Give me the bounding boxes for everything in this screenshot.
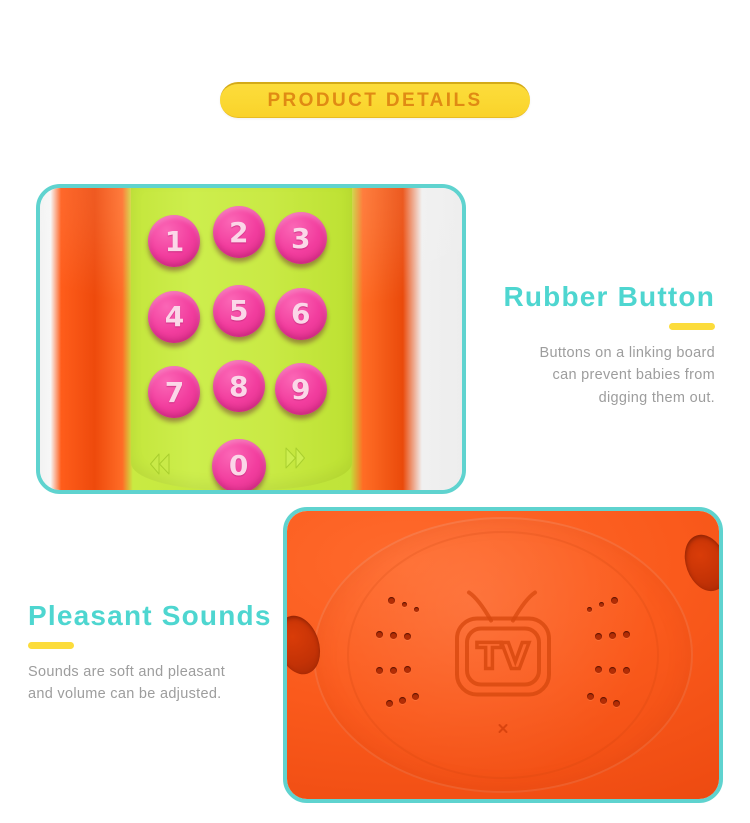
feature-heading-pleasant-sounds: Pleasant Sounds bbox=[28, 601, 278, 632]
keypad-key-1: 1 bbox=[148, 215, 200, 267]
keypad-key-9: 9 bbox=[275, 363, 327, 415]
description-line: Sounds are soft and pleasant bbox=[28, 661, 278, 683]
heading-underline-accent bbox=[28, 642, 74, 649]
description-line: digging them out. bbox=[480, 387, 715, 409]
keypad-key-5: 5 bbox=[213, 285, 265, 337]
keypad-key-8: 8 bbox=[213, 360, 265, 412]
keypad-photo: 1 2 3 4 5 6 7 8 9 0 bbox=[40, 188, 462, 490]
feature-description-rubber-button: Buttons on a linking board can prevent b… bbox=[480, 342, 715, 409]
heading-underline-accent bbox=[669, 323, 715, 330]
keypad-key-grid: 1 2 3 4 5 6 7 8 9 0 bbox=[131, 188, 353, 490]
feature-text-rubber-button: Rubber Button Buttons on a linking board… bbox=[480, 282, 715, 409]
keypad-key-6: 6 bbox=[275, 288, 327, 340]
feature-text-pleasant-sounds: Pleasant Sounds Sounds are soft and plea… bbox=[28, 601, 278, 706]
tv-emblem-icon: TV bbox=[443, 581, 563, 706]
keypad-key-7: 7 bbox=[148, 366, 200, 418]
feature-image-speaker: TV bbox=[283, 507, 723, 803]
feature-description-pleasant-sounds: Sounds are soft and pleasant and volume … bbox=[28, 661, 278, 706]
description-line: Buttons on a linking board bbox=[480, 342, 715, 364]
speaker-photo: TV bbox=[287, 511, 719, 799]
keypad-key-2: 2 bbox=[213, 206, 265, 258]
banner-container: PRODUCT DETAILS bbox=[0, 82, 750, 118]
feature-image-keypad: 1 2 3 4 5 6 7 8 9 0 bbox=[36, 184, 466, 494]
svg-text:TV: TV bbox=[477, 637, 530, 678]
screw-mark-icon bbox=[498, 723, 509, 734]
banner-title: PRODUCT DETAILS bbox=[267, 90, 482, 112]
fast-forward-icon bbox=[277, 445, 317, 471]
product-details-banner: PRODUCT DETAILS bbox=[220, 82, 530, 118]
description-line: can prevent babies from bbox=[480, 364, 715, 386]
keypad-key-0: 0 bbox=[212, 439, 266, 493]
keypad-key-4: 4 bbox=[148, 291, 200, 343]
feature-heading-rubber-button: Rubber Button bbox=[480, 282, 715, 313]
rewind-icon bbox=[144, 451, 184, 477]
keypad-key-3: 3 bbox=[275, 212, 327, 264]
speaker-indent-right bbox=[678, 529, 723, 597]
description-line: and volume can be adjusted. bbox=[28, 683, 278, 705]
